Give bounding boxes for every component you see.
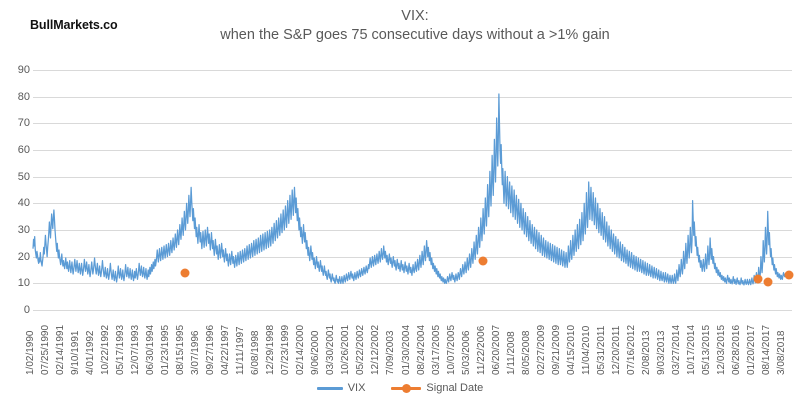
plot-area bbox=[33, 70, 792, 310]
vix-polyline bbox=[33, 94, 792, 285]
x-axis-tick-label: 12/07/1993 bbox=[131, 325, 141, 375]
x-axis-tick-label: 12/03/2015 bbox=[717, 325, 727, 375]
x-axis-tick-label: 06/28/2016 bbox=[732, 325, 742, 375]
x-axis-tick-label: 08/15/1995 bbox=[176, 325, 186, 375]
x-axis-tick-label: 2/08/2013 bbox=[642, 331, 652, 376]
x-axis-tick-label: 06/20/2007 bbox=[492, 325, 502, 375]
vix-chart: BullMarkets.co VIX: when the S&P goes 75… bbox=[0, 0, 800, 406]
x-axis-tick-label: 05/31/2011 bbox=[597, 326, 607, 375]
x-axis-tick-label: 05/13/2015 bbox=[702, 325, 712, 375]
x-axis-tick-label: 02/14/2000 bbox=[296, 325, 306, 375]
x-axis-tick-label: 01/20/2017 bbox=[747, 325, 757, 375]
signal-date-marker[interactable] bbox=[763, 278, 772, 287]
legend-item-vix[interactable]: VIX bbox=[317, 382, 366, 394]
x-axis-labels: 1/02/199007/25/199002/14/19919/10/19914/… bbox=[33, 313, 792, 375]
y-axis-tick-label: 70 bbox=[4, 118, 30, 128]
gridline bbox=[33, 310, 792, 311]
x-axis-tick-label: 9/10/1991 bbox=[71, 331, 81, 376]
vix-line-series bbox=[33, 70, 792, 310]
y-axis-tick-label: 90 bbox=[4, 65, 30, 75]
legend-label-vix: VIX bbox=[348, 382, 366, 394]
y-axis-tick-label: 10 bbox=[4, 278, 30, 288]
x-axis-tick-label: 03/27/2014 bbox=[672, 325, 682, 375]
chart-legend: VIX Signal Date bbox=[0, 382, 800, 394]
x-axis-tick-label: 07/25/1990 bbox=[41, 325, 51, 375]
signal-date-marker[interactable] bbox=[180, 268, 189, 277]
x-axis-tick-label: 03/30/2001 bbox=[326, 325, 336, 375]
x-axis-tick-label: 03/17/2005 bbox=[432, 325, 442, 375]
x-axis-tick-label: 3/08/2018 bbox=[777, 331, 787, 376]
x-axis-tick-label: 10/22/1992 bbox=[101, 325, 111, 375]
y-axis-labels: 9080706050403020100 bbox=[0, 70, 30, 310]
x-axis-tick-label: 12/12/2002 bbox=[371, 325, 381, 375]
x-axis-tick-label: 4/01/1992 bbox=[86, 331, 96, 376]
x-axis-tick-label: 1/11/2008 bbox=[507, 331, 517, 375]
x-axis-tick-label: 09/21/2009 bbox=[552, 325, 562, 375]
page-title: VIX: bbox=[180, 7, 650, 26]
signal-date-marker[interactable] bbox=[753, 275, 762, 284]
x-axis-tick-label: 02/27/2009 bbox=[537, 325, 547, 375]
legend-swatch-vix bbox=[317, 387, 343, 390]
legend-item-signal-date[interactable]: Signal Date bbox=[391, 382, 483, 394]
x-axis-tick-label: 8/05/2008 bbox=[522, 331, 532, 376]
brand-watermark: BullMarkets.co bbox=[30, 18, 118, 32]
signal-date-marker[interactable] bbox=[479, 256, 488, 265]
y-axis-tick-label: 0 bbox=[4, 305, 30, 315]
x-axis-tick-label: 5/03/2006 bbox=[462, 331, 472, 376]
x-axis-tick-label: 02/14/1991 bbox=[56, 325, 66, 375]
chart-subtitle: when the S&P goes 75 consecutive days wi… bbox=[180, 26, 650, 45]
x-axis-tick-label: 01/23/1995 bbox=[161, 325, 171, 375]
x-axis-tick-label: 7/09/2003 bbox=[386, 331, 396, 376]
x-axis-tick-label: 3/07/1996 bbox=[191, 331, 201, 376]
x-axis-tick-label: 10/26/2001 bbox=[341, 325, 351, 375]
y-axis-tick-label: 60 bbox=[4, 145, 30, 155]
x-axis-tick-label: 12/20/2011 bbox=[612, 326, 622, 375]
x-axis-tick-label: 12/29/1998 bbox=[266, 325, 276, 375]
x-axis-tick-label: 06/30/1994 bbox=[146, 325, 156, 375]
x-axis-tick-label: 05/22/2002 bbox=[356, 325, 366, 375]
x-axis-tick-label: 08/14/2017 bbox=[762, 325, 772, 375]
x-axis-tick-label: 11/11/1997 bbox=[236, 326, 246, 375]
x-axis-tick-label: 11/22/2006 bbox=[477, 326, 487, 375]
legend-label-signal-date: Signal Date bbox=[426, 382, 483, 394]
x-axis-tick-label: 9/03/2013 bbox=[657, 331, 667, 376]
y-axis-tick-label: 20 bbox=[4, 252, 30, 262]
x-axis-tick-label: 9/06/2000 bbox=[311, 331, 321, 376]
x-axis-tick-label: 10/07/2005 bbox=[447, 325, 457, 375]
y-axis-tick-label: 50 bbox=[4, 172, 30, 182]
y-axis-tick-label: 30 bbox=[4, 225, 30, 235]
x-axis-tick-label: 07/23/1999 bbox=[281, 325, 291, 375]
x-axis-tick-label: 07/16/2012 bbox=[627, 325, 637, 375]
x-axis-tick-label: 10/17/2014 bbox=[687, 325, 697, 375]
x-axis-tick-label: 05/17/1993 bbox=[116, 325, 126, 375]
signal-date-marker[interactable] bbox=[784, 270, 793, 279]
legend-swatch-signal-date bbox=[391, 384, 421, 393]
x-axis-tick-label: 6/08/1998 bbox=[251, 331, 261, 376]
y-axis-tick-label: 40 bbox=[4, 198, 30, 208]
x-axis-tick-label: 04/22/1997 bbox=[221, 325, 231, 375]
chart-title-block: VIX: when the S&P goes 75 consecutive da… bbox=[180, 7, 650, 45]
x-axis-tick-label: 04/15/2010 bbox=[567, 325, 577, 375]
y-axis-tick-label: 80 bbox=[4, 92, 30, 102]
x-axis-tick-label: 08/24/2004 bbox=[417, 325, 427, 375]
x-axis-tick-label: 01/30/2004 bbox=[402, 325, 412, 375]
x-axis-tick-label: 11/04/2010 bbox=[582, 326, 592, 375]
x-axis-tick-label: 1/02/1990 bbox=[26, 331, 36, 376]
x-axis-tick-label: 09/27/1996 bbox=[206, 325, 216, 375]
